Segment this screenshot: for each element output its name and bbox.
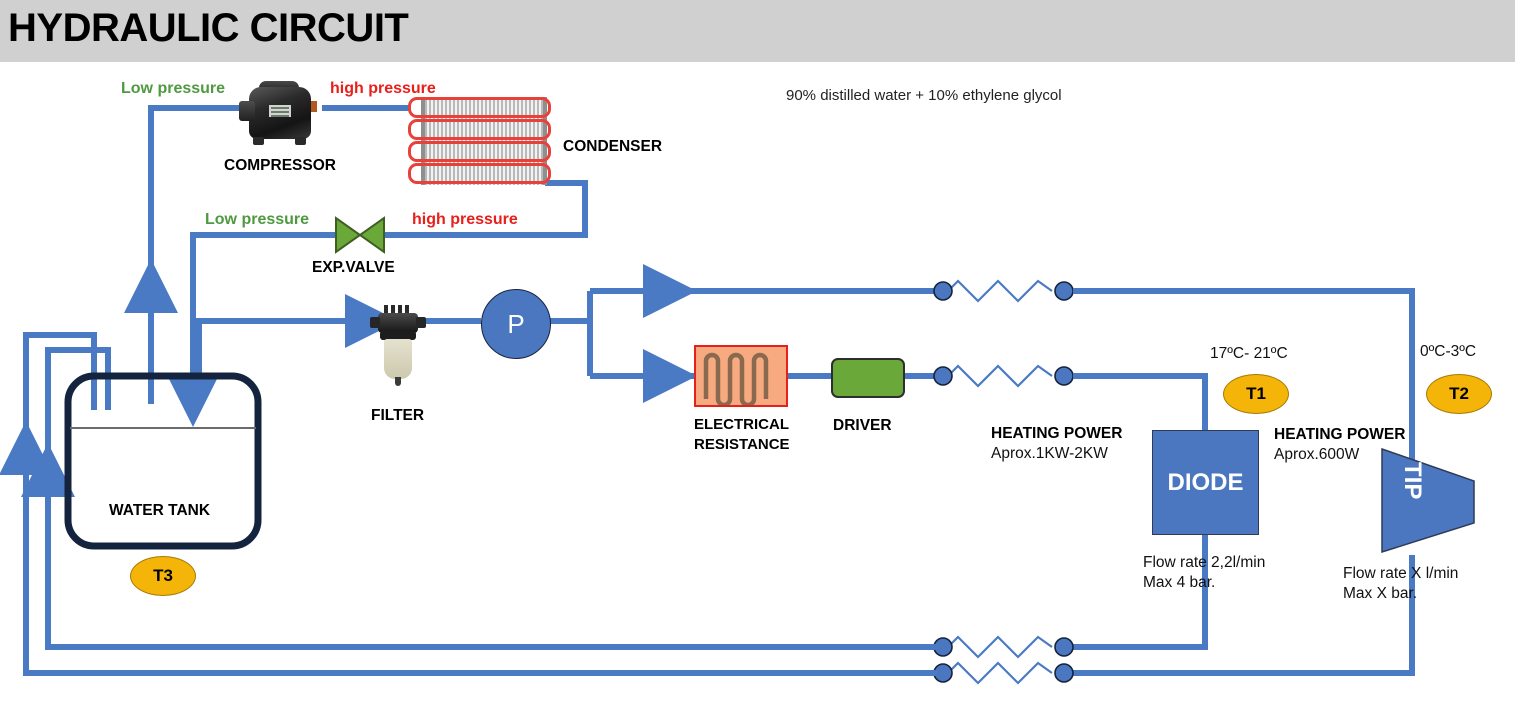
compressor-nameplate (269, 105, 291, 117)
compressor-foot (295, 137, 306, 145)
sensor-badge-label: T2 (1449, 384, 1469, 404)
label-diode-heating-power-value: Aprox.1KW-2KW (991, 445, 1108, 463)
filter-drain (395, 377, 401, 386)
compressor-connector (311, 101, 317, 112)
label-diode-flow-1: Flow rate 2,2l/min (1143, 554, 1265, 572)
pipe-return-upper (48, 350, 938, 647)
condenser-image (408, 95, 553, 187)
diagram-canvas: HYDRAULIC CIRCUIT (0, 0, 1515, 722)
label-water-tank: WATER TANK (109, 502, 210, 520)
condenser-tube (408, 97, 551, 118)
label-diode-flow-2: Max 4 bar. (1143, 574, 1215, 592)
pipe-to-diode-inlet (1073, 376, 1205, 430)
pump-symbol: P (481, 289, 551, 359)
filter-image (370, 303, 426, 389)
sensor-badge-t1[interactable]: T1 (1223, 374, 1289, 414)
tip-label: TIP (1398, 462, 1426, 499)
label-compressor: COMPRESSOR (224, 157, 336, 175)
label-electrical-resistance-1: ELECTRICAL (694, 416, 789, 433)
pump-label: P (507, 309, 524, 340)
node-dot (1055, 282, 1073, 300)
label-diode-temp-range: 17ºC- 21ºC (1210, 345, 1288, 363)
node-dot (934, 367, 952, 385)
label-high-pressure-1: high pressure (330, 80, 436, 99)
label-high-pressure-2: high pressure (412, 211, 518, 230)
electrical-resistance-symbol (694, 345, 788, 407)
expansion-valve-symbol (336, 218, 384, 252)
refrigerant-arrows (151, 286, 193, 400)
diode-label: DIODE (1153, 469, 1258, 497)
pipe-tank-to-filter (199, 321, 372, 400)
node-dot (1055, 638, 1073, 656)
filter-head (378, 313, 418, 333)
resistor-symbol-top (948, 281, 1052, 301)
label-driver: DRIVER (833, 417, 892, 435)
label-condenser: CONDENSER (563, 138, 662, 156)
label-tip-flow-1: Flow rate X l/min (1343, 565, 1458, 583)
resistor-symbol-mid (948, 366, 1052, 386)
water-piping (199, 291, 938, 400)
node-dot (934, 282, 952, 300)
condenser-tube (408, 163, 551, 184)
sensor-badge-t2[interactable]: T2 (1426, 374, 1492, 414)
label-electrical-resistance-2: RESISTANCE (694, 436, 790, 453)
label-coolant-mix: 90% distilled water + 10% ethylene glyco… (786, 87, 1062, 104)
label-tip-heating-power-value: Aprox.600W (1274, 446, 1359, 464)
resistor-symbol-bottom-1 (948, 637, 1052, 657)
compressor-image (233, 79, 327, 149)
label-tip-temp-range: 0ºC-3ºC (1420, 343, 1476, 361)
node-dot (1055, 664, 1073, 682)
filter-inlet (370, 317, 380, 328)
resistor-symbol-bottom-2 (948, 663, 1052, 683)
driver-block (831, 358, 905, 398)
label-exp-valve: EXP.VALVE (312, 259, 395, 277)
return-arrows (26, 448, 48, 520)
label-diode-heating-power-title: HEATING POWER (991, 425, 1122, 443)
sensor-badge-label: T1 (1246, 384, 1266, 404)
condenser-tube (408, 119, 551, 140)
filter-bowl (384, 339, 412, 379)
compressor-foot (253, 137, 264, 145)
compressor-terminal-box (239, 101, 255, 121)
diode-block: DIODE (1152, 430, 1259, 535)
sensor-badge-t3[interactable]: T3 (130, 556, 196, 596)
filter-outlet (416, 317, 426, 328)
label-low-pressure-2: Low pressure (205, 211, 309, 230)
label-low-pressure-1: Low pressure (121, 80, 225, 99)
condenser-tube (408, 141, 551, 162)
sensor-badge-label: T3 (153, 566, 173, 586)
node-dot (1055, 367, 1073, 385)
label-filter: FILTER (371, 407, 424, 425)
label-tip-flow-2: Max X bar. (1343, 585, 1417, 603)
label-tip-heating-power-title: HEATING POWER (1274, 426, 1405, 444)
